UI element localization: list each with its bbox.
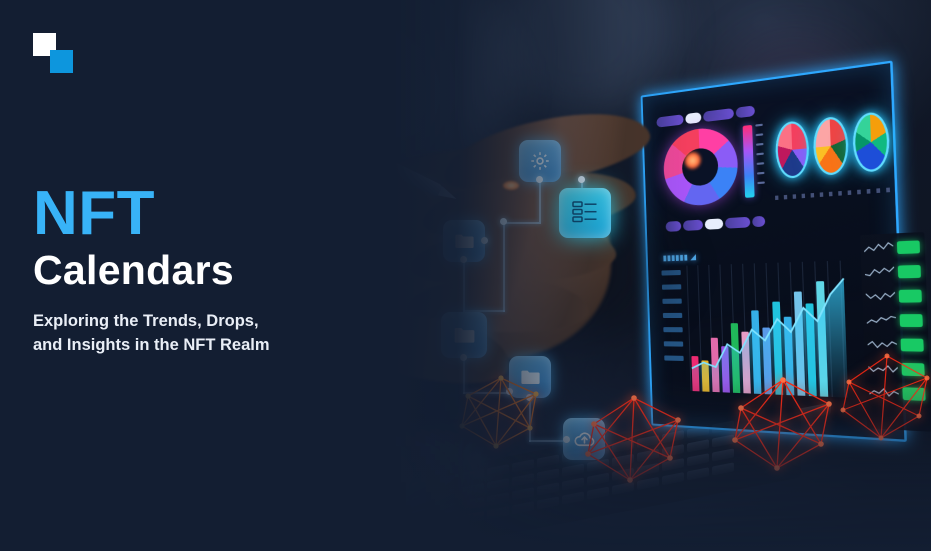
page-subtitle: Exploring the Trends, Drops, and Insight… [33, 310, 338, 358]
hero-content: NFT Calendars Exploring the Trends, Drop… [33, 185, 363, 358]
wireframe-polyhedron-right [721, 370, 846, 475]
subtitle-line-1: Exploring the Trends, Drops, [33, 310, 338, 334]
wireframe-polyhedron-center [576, 388, 696, 488]
logo[interactable] [33, 33, 73, 73]
wireframe-polyhedron-far-right [831, 348, 931, 443]
hero-photo: ▮▮▮▮▮▮ ◢ [291, 0, 931, 551]
folder-icon [452, 323, 477, 348]
page-title-secondary: Calendars [33, 248, 363, 293]
document-list-icon [570, 199, 600, 227]
nft-calendars-banner: ▮▮▮▮▮▮ ◢ [0, 0, 931, 551]
logo-square-blue [50, 50, 73, 73]
wireframe-polyhedron-left [446, 370, 556, 460]
subtitle-line-2: and Insights in the NFT Realm [33, 334, 338, 358]
folder-icon [453, 230, 476, 253]
node-document[interactable] [559, 188, 611, 238]
page-title-primary: NFT [33, 185, 363, 244]
floating-node-diagram [411, 130, 711, 380]
node-folder-left[interactable] [441, 312, 487, 358]
gear-icon [529, 150, 551, 172]
